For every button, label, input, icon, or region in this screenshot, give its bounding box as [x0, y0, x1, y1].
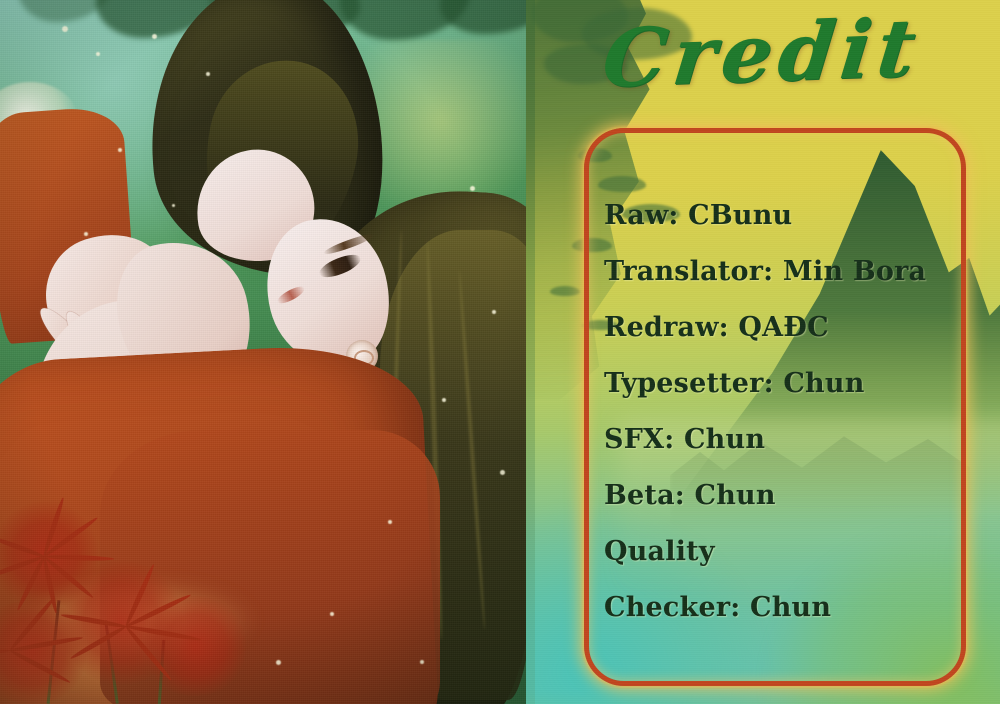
light-speck: [420, 660, 424, 664]
credit-line-beta: Beta: Chun: [604, 468, 954, 524]
credit-list: Raw: CBunu Translator: Min Bora Redraw: …: [604, 188, 954, 636]
light-speck: [206, 72, 210, 76]
tree-sprig-icon: [550, 286, 580, 296]
light-speck: [152, 34, 157, 39]
credit-line-checker: Checker: Chun: [604, 580, 954, 636]
light-speck: [492, 310, 496, 314]
credit-line-sfx: SFX: Chun: [604, 412, 954, 468]
light-speck: [96, 52, 100, 56]
panel-left-edge: [526, 0, 535, 704]
credit-line-redraw: Redraw: QAĐC: [604, 300, 954, 356]
light-speck: [442, 398, 446, 402]
illustration-panel: [0, 0, 526, 704]
light-speck: [388, 520, 392, 524]
light-speck: [172, 204, 175, 207]
credit-line-quality: Quality: [604, 524, 954, 580]
light-speck: [330, 612, 334, 616]
credit-line-translator: Translator: Min Bora: [604, 244, 954, 300]
page-title: Credit: [598, 1, 925, 106]
light-speck: [118, 148, 122, 152]
light-speck: [62, 26, 68, 32]
light-speck: [470, 186, 475, 191]
credit-panel: Credit Raw: CBunu Translator: Min Bora R…: [526, 0, 1000, 704]
credit-page: Credit Raw: CBunu Translator: Min Bora R…: [0, 0, 1000, 704]
light-speck: [500, 470, 505, 475]
light-speck: [84, 232, 88, 236]
light-speck: [276, 660, 281, 665]
credit-line-typesetter: Typesetter: Chun: [604, 356, 954, 412]
credit-line-raw: Raw: CBunu: [604, 188, 954, 244]
